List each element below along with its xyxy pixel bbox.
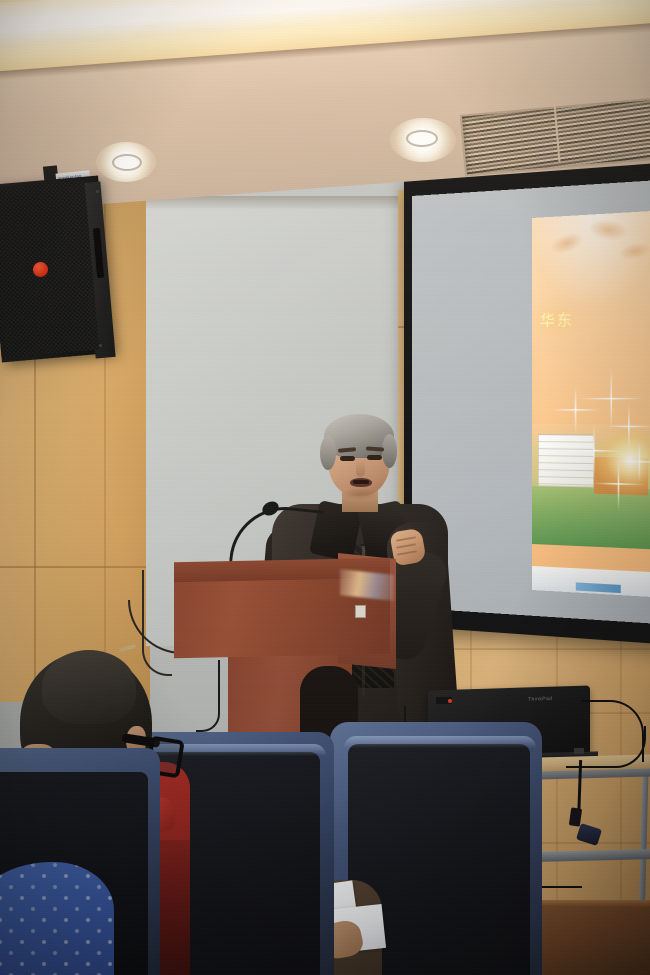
panel-shadow [146, 196, 404, 210]
presenter-nose [356, 460, 365, 477]
presentation-slide: 华东 [532, 210, 650, 597]
downlight-trim [406, 130, 438, 147]
presenter-eye [367, 455, 382, 460]
lecture-hall-photo: 华东 speaker-tag [0, 0, 650, 975]
presenter-eye [340, 456, 355, 461]
downlight-trim [112, 154, 142, 171]
speaker-indicator-icon [33, 262, 48, 277]
slide-title-text: 华东 [540, 306, 650, 331]
presenter-chin-shadow [340, 488, 380, 500]
presenter-hair-side [320, 436, 336, 470]
seat-trim-highlight [344, 736, 536, 748]
podium-label-tag [355, 605, 366, 618]
speaker-screw [99, 344, 102, 347]
wall-cable [196, 660, 220, 732]
presenter-hair-side [382, 434, 397, 468]
sparkle-icon [592, 457, 646, 512]
podium-light-reflection [340, 569, 394, 601]
thinkpad-logo-dot-icon [448, 699, 452, 703]
equipment-cable [566, 726, 646, 768]
speaker-screw [96, 190, 99, 193]
presenter-mouth-inner [353, 480, 369, 484]
speaker-grille [0, 180, 99, 358]
audience-hair [42, 650, 136, 724]
audience-member-blue-shirt [0, 862, 114, 975]
